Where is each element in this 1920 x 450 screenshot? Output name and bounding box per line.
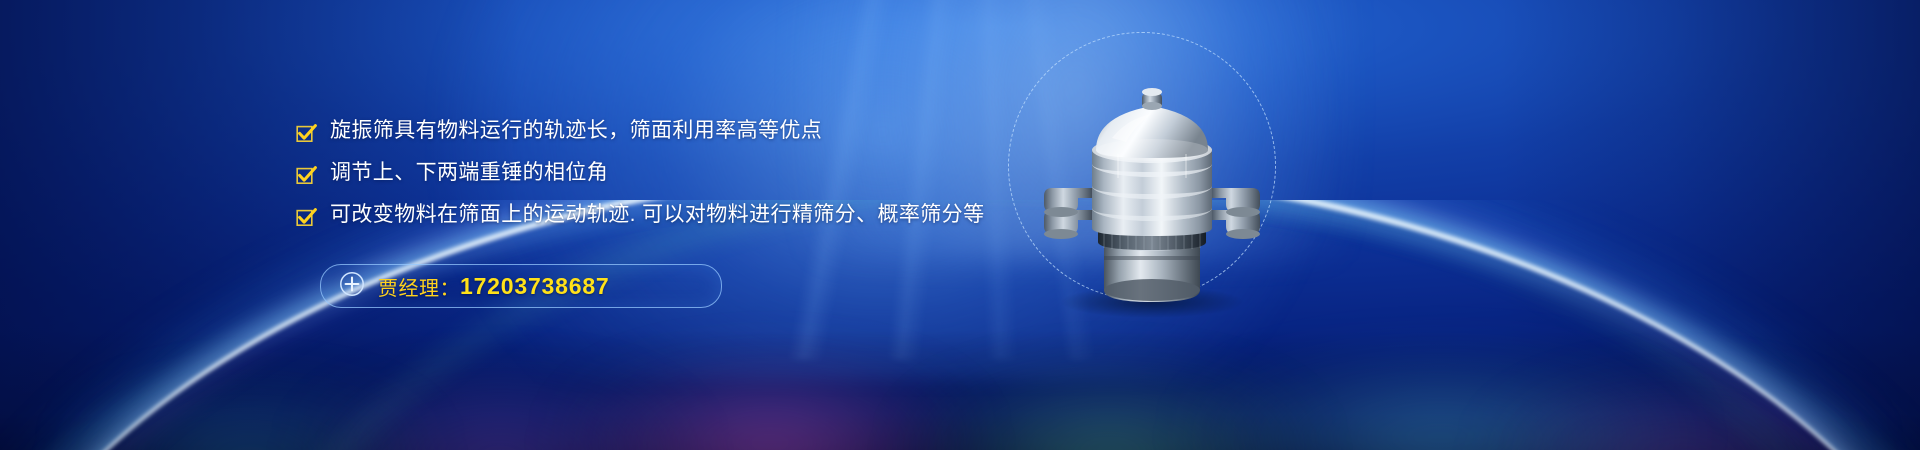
plus-circle-icon — [339, 271, 365, 302]
promo-banner: 旋振筛具有物料运行的轨迹长，筛面利用率高等优点 调节上、下两端重锤的相位角 可改… — [0, 0, 1920, 450]
list-item: 旋振筛具有物料运行的轨迹长，筛面利用率高等优点 — [296, 118, 1056, 144]
feature-list: 旋振筛具有物料运行的轨迹长，筛面利用率高等优点 调节上、下两端重锤的相位角 可改… — [296, 118, 1056, 244]
contact-button[interactable]: 贾经理： 17203738687 — [320, 264, 722, 308]
list-item-label: 调节上、下两端重锤的相位角 — [330, 160, 608, 186]
checkbox-check-icon — [296, 207, 317, 228]
contact-phone: 17203738687 — [460, 273, 610, 300]
checkbox-check-icon — [296, 123, 317, 144]
list-item-label: 旋振筛具有物料运行的轨迹长，筛面利用率高等优点 — [330, 118, 822, 144]
contact-label: 贾经理： — [378, 272, 460, 301]
list-item: 调节上、下两端重锤的相位角 — [296, 160, 1056, 186]
list-item: 可改变物料在筛面上的运动轨迹. 可以对物料进行精筛分、概率筛分等 — [296, 202, 1056, 228]
checkbox-check-icon — [296, 165, 317, 186]
list-item-label: 可改变物料在筛面上的运动轨迹. 可以对物料进行精筛分、概率筛分等 — [330, 202, 984, 228]
